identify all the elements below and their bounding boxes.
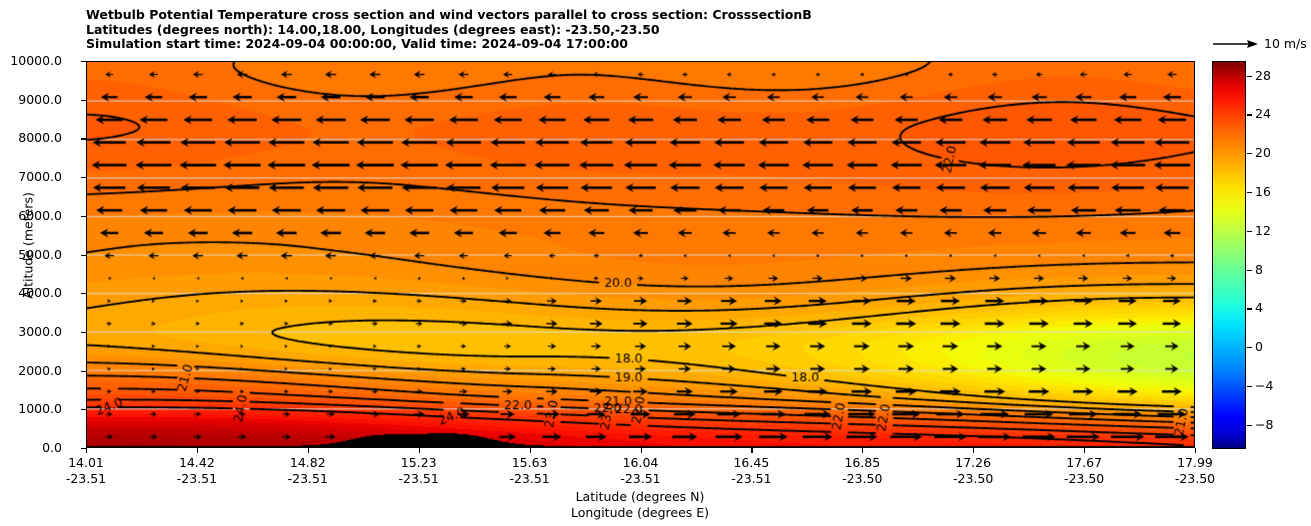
x-tick-latitude: 16.85 xyxy=(802,455,922,471)
arrow-right-icon xyxy=(1212,36,1260,52)
x-tick-mark xyxy=(862,448,863,453)
x-tick-latitude: 14.82 xyxy=(248,455,368,471)
x-tick-mark xyxy=(86,448,87,453)
x-tick-mark xyxy=(1195,448,1196,453)
colorbar-tick-mark xyxy=(1247,192,1252,193)
x-tick-latitude: 17.67 xyxy=(1024,455,1144,471)
x-tick-mark xyxy=(1084,448,1085,453)
colorbar-tick-mark xyxy=(1247,153,1252,154)
y-tick-label: 4000.0 xyxy=(0,285,62,300)
x-tick-latitude: 14.01 xyxy=(26,455,146,471)
x-tick-mark xyxy=(641,448,642,453)
y-tick-mark xyxy=(81,332,86,333)
y-tick-mark xyxy=(81,255,86,256)
x-tick-label: 16.85-23.50 xyxy=(802,455,922,486)
cross-section-plot xyxy=(86,61,1195,448)
colorbar-tick-mark xyxy=(1247,114,1252,115)
y-tick-mark xyxy=(81,371,86,372)
x-tick-mark xyxy=(419,448,420,453)
x-tick-label: 14.42-23.51 xyxy=(137,455,257,486)
x-tick-label: 14.01-23.51 xyxy=(26,455,146,486)
title-line-1: Wetbulb Potential Temperature cross sect… xyxy=(86,8,1186,23)
x-tick-label: 14.82-23.51 xyxy=(248,455,368,486)
y-tick-label: 9000.0 xyxy=(0,92,62,107)
title-line-3: Simulation start time: 2024-09-04 00:00:… xyxy=(86,37,1186,52)
colorbar-tick-mark xyxy=(1247,386,1252,387)
colorbar-tick-mark xyxy=(1247,308,1252,309)
y-tick-label: 0.0 xyxy=(0,440,62,455)
x-tick-longitude: -23.51 xyxy=(470,471,590,487)
x-tick-longitude: -23.50 xyxy=(913,471,1033,487)
colorbar-tick-label: 8 xyxy=(1255,262,1263,277)
y-tick-mark xyxy=(81,138,86,139)
colorbar-tick-mark xyxy=(1247,231,1252,232)
colorbar-tick-label: 12 xyxy=(1255,223,1271,238)
y-tick-label: 6000.0 xyxy=(0,208,62,223)
x-tick-label: 16.04-23.51 xyxy=(581,455,701,486)
x-tick-label: 17.99-23.50 xyxy=(1135,455,1255,486)
x-axis-label-longitude: Longitude (degrees E) xyxy=(340,505,940,521)
x-tick-label: 16.45-23.51 xyxy=(691,455,811,486)
colorbar-tick-label: 20 xyxy=(1255,145,1271,160)
x-tick-latitude: 15.63 xyxy=(470,455,590,471)
x-tick-mark xyxy=(973,448,974,453)
y-tick-label: 3000.0 xyxy=(0,324,62,339)
y-tick-label: 5000.0 xyxy=(0,247,62,262)
y-tick-mark xyxy=(81,293,86,294)
x-tick-longitude: -23.51 xyxy=(691,471,811,487)
x-axis-label: Latitude (degrees N) Longitude (degrees … xyxy=(340,489,940,521)
x-tick-longitude: -23.50 xyxy=(1135,471,1255,487)
x-tick-longitude: -23.51 xyxy=(137,471,257,487)
colorbar-tick-label: −8 xyxy=(1255,417,1273,432)
wind-key-label: 10 m/s xyxy=(1264,36,1307,51)
wind-vector-key: 10 m/s xyxy=(1212,34,1311,56)
colorbar-tick-label: 16 xyxy=(1255,184,1271,199)
x-tick-latitude: 14.42 xyxy=(137,455,257,471)
y-tick-label: 7000.0 xyxy=(0,169,62,184)
x-tick-longitude: -23.51 xyxy=(248,471,368,487)
y-tick-mark xyxy=(81,61,86,62)
x-tick-mark xyxy=(751,448,752,453)
x-tick-longitude: -23.51 xyxy=(26,471,146,487)
title-line-2: Latitudes (degrees north): 14.00,18.00, … xyxy=(86,23,1186,38)
colorbar-tick-mark xyxy=(1247,76,1252,77)
x-tick-mark xyxy=(530,448,531,453)
x-tick-latitude: 15.23 xyxy=(359,455,479,471)
chart-title-block: Wetbulb Potential Temperature cross sect… xyxy=(86,8,1186,52)
colorbar-tick-mark xyxy=(1247,270,1252,271)
x-tick-longitude: -23.51 xyxy=(359,471,479,487)
y-tick-mark xyxy=(81,409,86,410)
x-tick-latitude: 16.45 xyxy=(691,455,811,471)
colorbar-tick-mark xyxy=(1247,347,1252,348)
y-tick-mark xyxy=(81,100,86,101)
y-tick-label: 2000.0 xyxy=(0,363,62,378)
colorbar-tick-label: 4 xyxy=(1255,300,1263,315)
x-tick-latitude: 17.99 xyxy=(1135,455,1255,471)
x-tick-longitude: -23.50 xyxy=(1024,471,1144,487)
colorbar-tick-label: 28 xyxy=(1255,68,1271,83)
x-tick-label: 17.26-23.50 xyxy=(913,455,1033,486)
x-tick-latitude: 17.26 xyxy=(913,455,1033,471)
x-tick-longitude: -23.50 xyxy=(802,471,922,487)
colorbar-tick-label: 0 xyxy=(1255,339,1263,354)
colorbar-tick-mark xyxy=(1247,425,1252,426)
x-tick-label: 15.23-23.51 xyxy=(359,455,479,486)
y-tick-label: 10000.0 xyxy=(0,53,62,68)
x-tick-label: 17.67-23.50 xyxy=(1024,455,1144,486)
y-tick-mark xyxy=(81,177,86,178)
x-tick-mark xyxy=(197,448,198,453)
x-axis-label-latitude: Latitude (degrees N) xyxy=(340,489,940,505)
colorbar-tick-label: 24 xyxy=(1255,106,1271,121)
cross-section-canvas xyxy=(87,62,1194,447)
colorbar xyxy=(1212,61,1246,449)
x-tick-longitude: -23.51 xyxy=(581,471,701,487)
y-tick-label: 8000.0 xyxy=(0,130,62,145)
x-tick-latitude: 16.04 xyxy=(581,455,701,471)
y-tick-mark xyxy=(81,216,86,217)
colorbar-tick-label: −4 xyxy=(1255,378,1273,393)
x-tick-mark xyxy=(308,448,309,453)
x-tick-label: 15.63-23.51 xyxy=(470,455,590,486)
y-tick-label: 1000.0 xyxy=(0,401,62,416)
